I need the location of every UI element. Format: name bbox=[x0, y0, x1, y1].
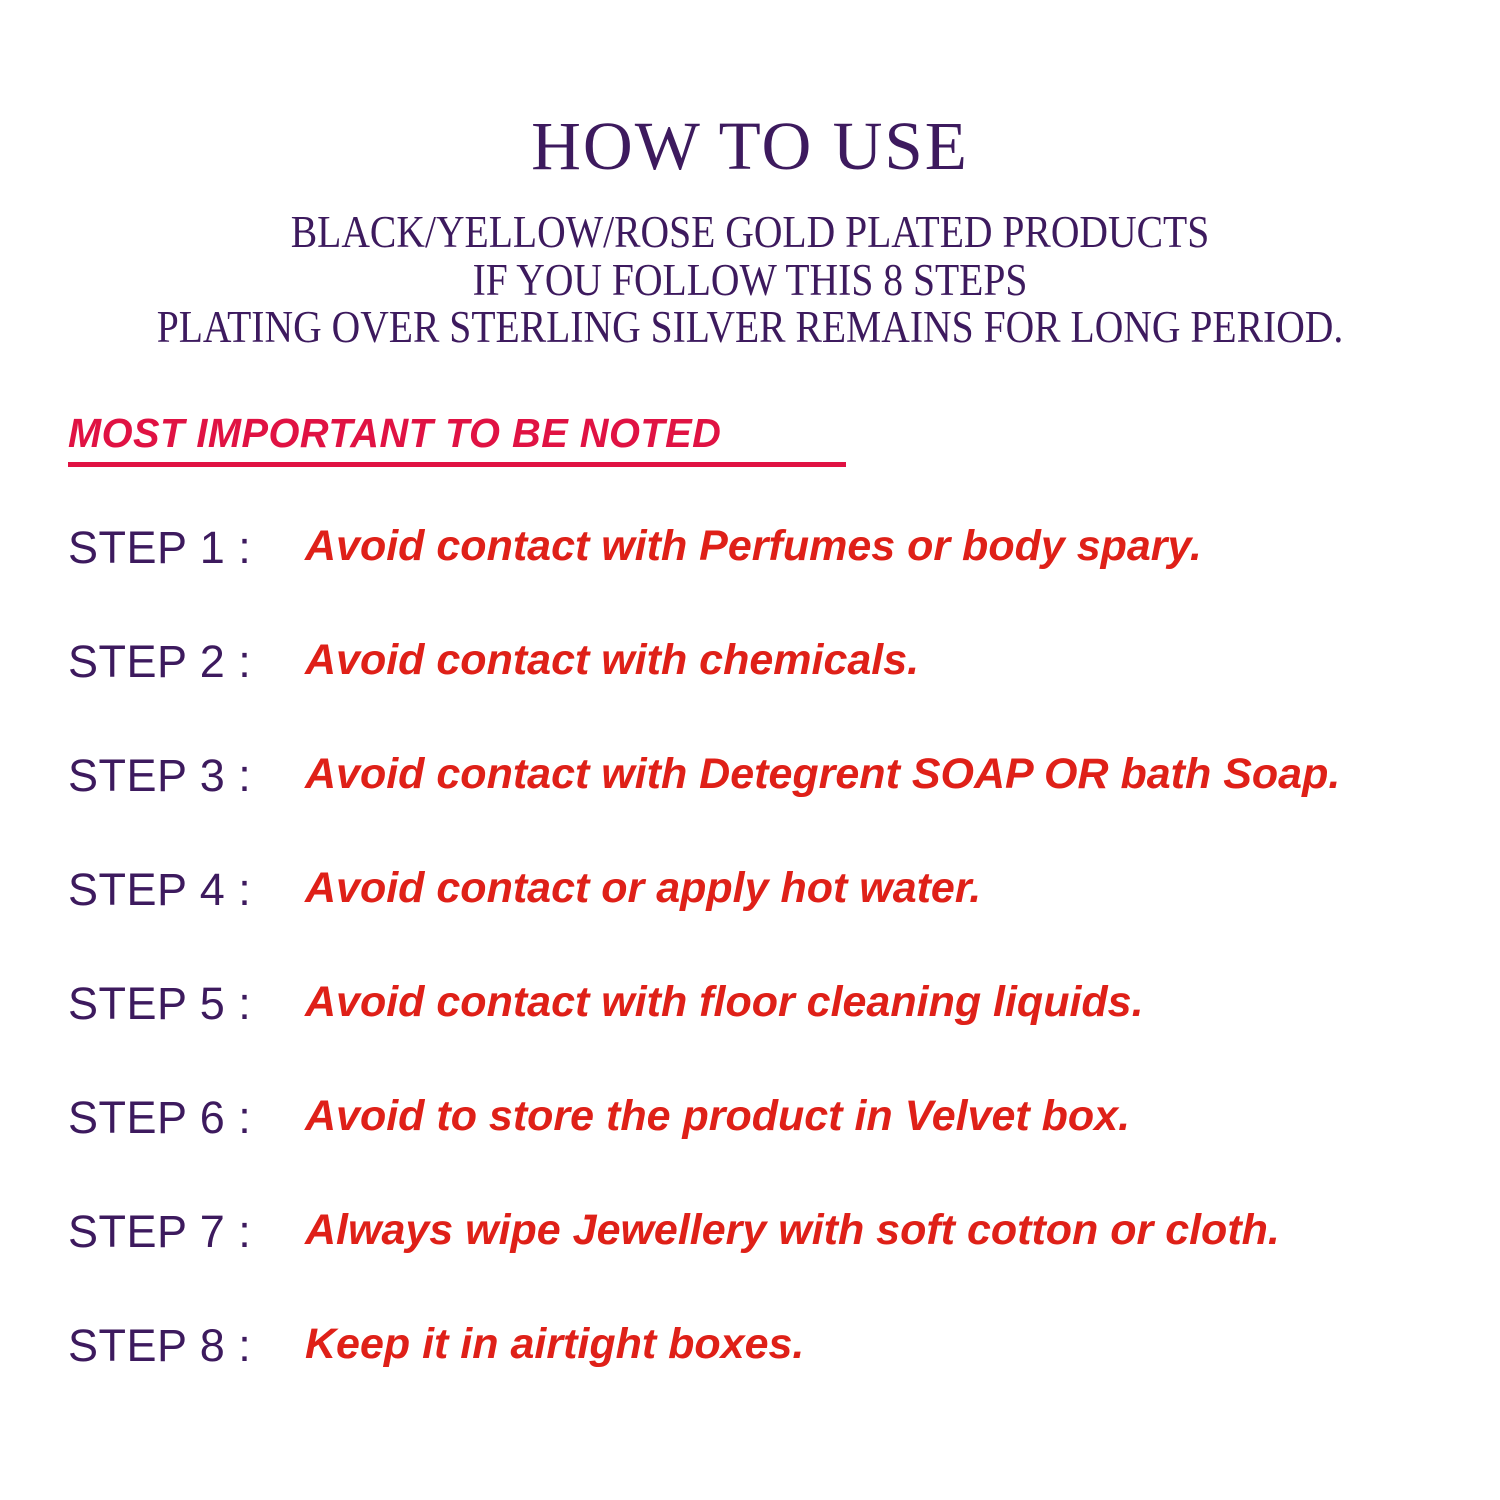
step-row: STEP 1 : Avoid contact with Perfumes or … bbox=[68, 525, 1468, 639]
step-label-3: STEP 3 : bbox=[68, 753, 305, 798]
step-label-7: STEP 7 : bbox=[68, 1209, 305, 1254]
notice-heading-block: MOST IMPORTANT TO BE NOTED bbox=[68, 412, 846, 467]
notice-underline bbox=[68, 462, 846, 467]
step-row: STEP 2 : Avoid contact with chemicals. bbox=[68, 639, 1468, 753]
step-row: STEP 8 : Keep it in airtight boxes. bbox=[68, 1323, 1468, 1437]
step-text-2: Avoid contact with chemicals. bbox=[305, 639, 1468, 682]
step-row: STEP 4 : Avoid contact or apply hot wate… bbox=[68, 867, 1468, 981]
step-text-3: Avoid contact with Detegrent SOAP OR bat… bbox=[305, 753, 1468, 796]
step-label-1: STEP 1 : bbox=[68, 525, 305, 570]
step-text-5: Avoid contact with floor cleaning liquid… bbox=[305, 981, 1468, 1024]
steps-list: STEP 1 : Avoid contact with Perfumes or … bbox=[68, 525, 1468, 1437]
step-label-6: STEP 6 : bbox=[68, 1095, 305, 1140]
step-text-8: Keep it in airtight boxes. bbox=[305, 1323, 1468, 1366]
notice-heading: MOST IMPORTANT TO BE NOTED bbox=[68, 412, 721, 455]
step-label-4: STEP 4 : bbox=[68, 867, 305, 912]
instruction-card: HOW TO USE BLACK/YELLOW/ROSE GOLD PLATED… bbox=[0, 0, 1500, 1500]
subtitle-line-3: PLATING OVER STERLING SILVER REMAINS FOR… bbox=[90, 304, 1410, 352]
subtitle-line-1: BLACK/YELLOW/ROSE GOLD PLATED PRODUCTS bbox=[90, 209, 1410, 257]
header-block: HOW TO USE BLACK/YELLOW/ROSE GOLD PLATED… bbox=[0, 0, 1500, 352]
step-row: STEP 6 : Avoid to store the product in V… bbox=[68, 1095, 1468, 1209]
subtitle-block: BLACK/YELLOW/ROSE GOLD PLATED PRODUCTS I… bbox=[0, 209, 1500, 352]
step-text-6: Avoid to store the product in Velvet box… bbox=[305, 1095, 1468, 1138]
step-row: STEP 3 : Avoid contact with Detegrent SO… bbox=[68, 753, 1468, 867]
step-label-8: STEP 8 : bbox=[68, 1323, 305, 1368]
page-title: HOW TO USE bbox=[0, 0, 1500, 181]
step-text-7: Always wipe Jewellery with soft cotton o… bbox=[305, 1209, 1468, 1252]
step-row: STEP 5 : Avoid contact with floor cleani… bbox=[68, 981, 1468, 1095]
step-text-1: Avoid contact with Perfumes or body spar… bbox=[305, 525, 1468, 568]
step-label-2: STEP 2 : bbox=[68, 639, 305, 684]
step-text-4: Avoid contact or apply hot water. bbox=[305, 867, 1468, 910]
step-label-5: STEP 5 : bbox=[68, 981, 305, 1026]
subtitle-line-2: IF YOU FOLLOW THIS 8 STEPS bbox=[90, 257, 1410, 305]
step-row: STEP 7 : Always wipe Jewellery with soft… bbox=[68, 1209, 1468, 1323]
